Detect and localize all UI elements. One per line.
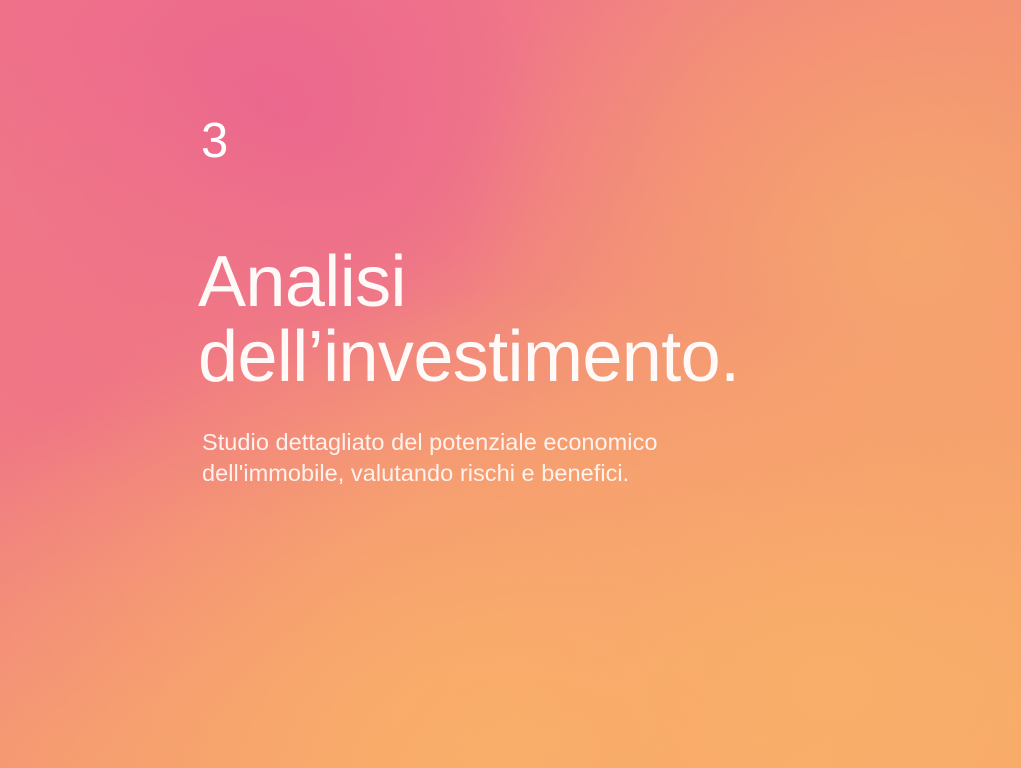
slide-subtitle: Studio dettagliato del potenziale econom… — [202, 427, 658, 489]
section-number: 3 — [201, 112, 228, 170]
page-title: Analisi dell’investimento. — [198, 245, 739, 395]
slide-content: 3 Analisi dell’investimento. Studio dett… — [201, 0, 961, 768]
slide-canvas: 3 Analisi dell’investimento. Studio dett… — [0, 0, 1021, 768]
